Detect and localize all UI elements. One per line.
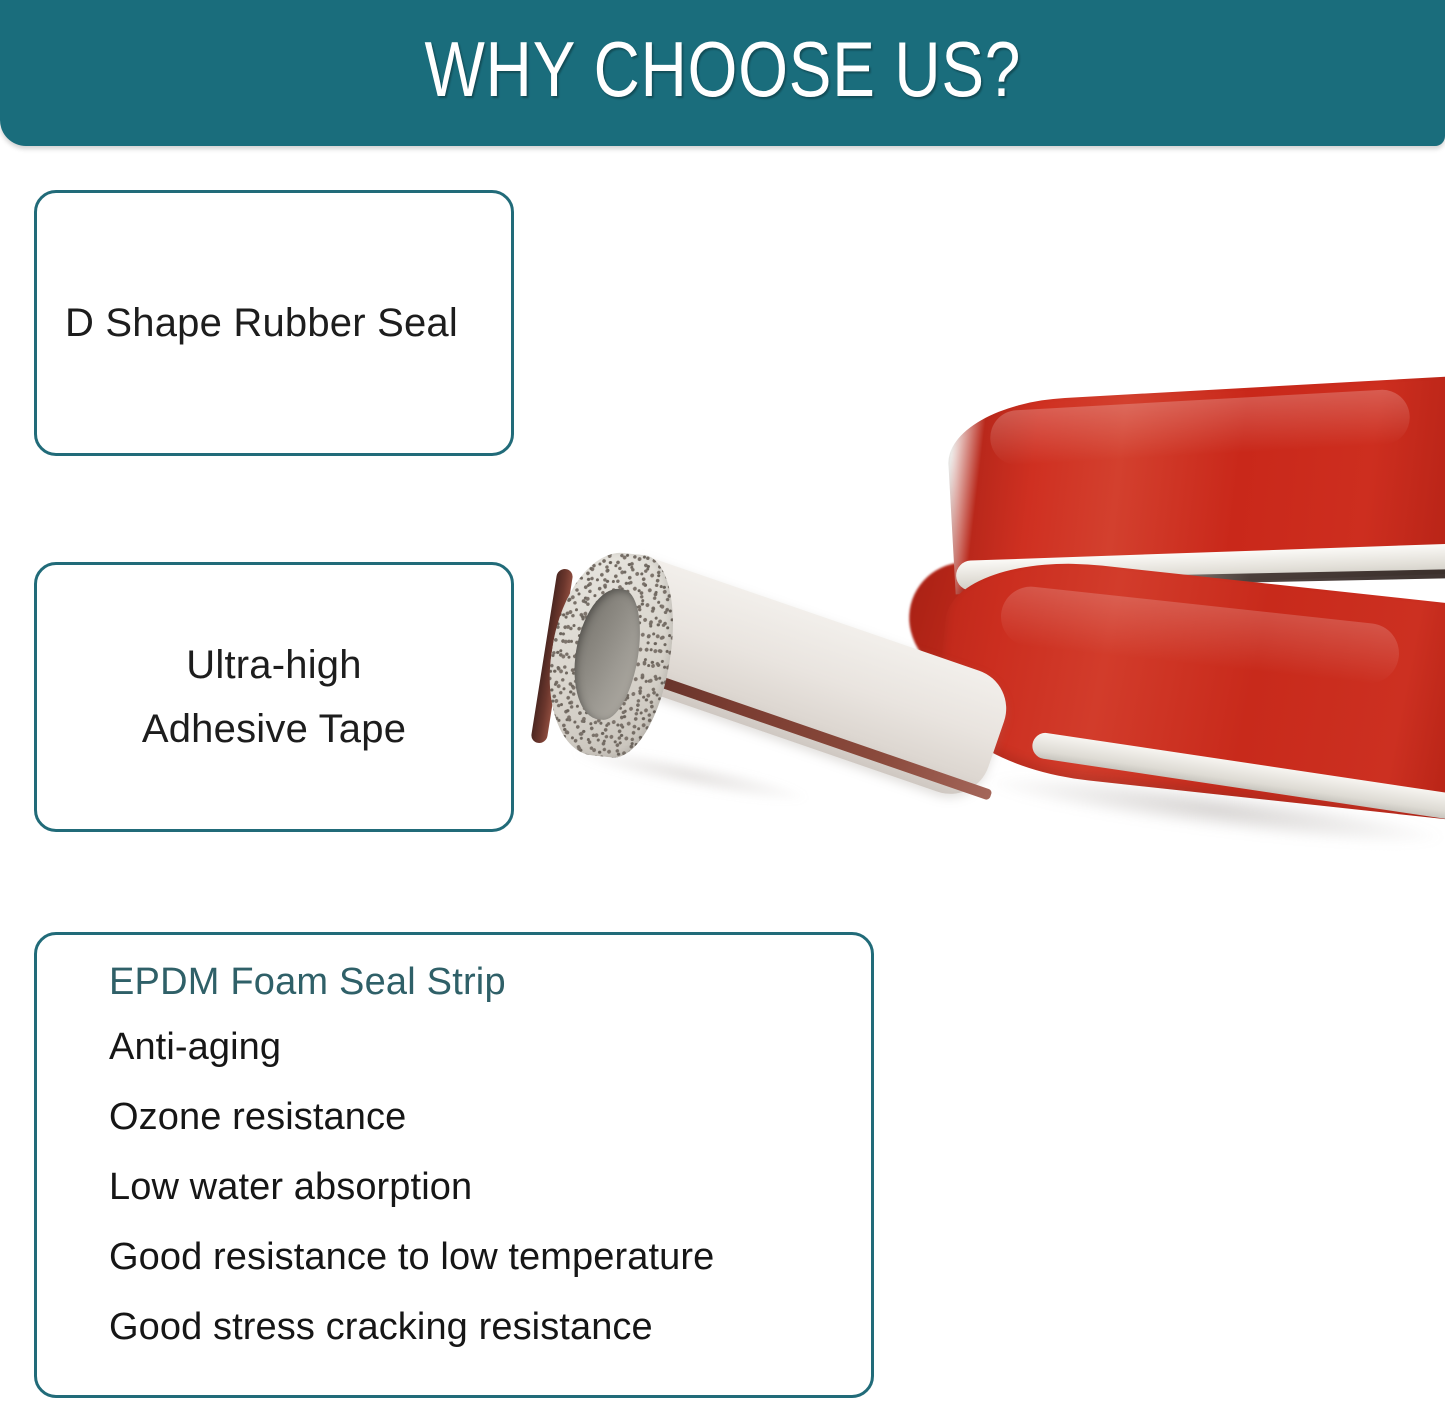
d-shape-seal-strip-image <box>530 530 1000 830</box>
feature-box-d-shape: D Shape Rubber Seal <box>34 190 514 456</box>
seal-strip-drop-shadow <box>570 739 811 810</box>
epdm-section-title: EPDM Foam Seal Strip <box>109 961 871 1004</box>
feature-box-d-shape-label: D Shape Rubber Seal <box>37 301 458 346</box>
feature-box-epdm: EPDM Foam Seal Strip Anti-aging Ozone re… <box>34 932 874 1398</box>
feature-box-adhesive: Ultra-high Adhesive Tape <box>34 562 514 832</box>
feature-box-adhesive-line2: Adhesive Tape <box>142 709 406 749</box>
page-title: WHY CHOOSE US? <box>424 24 1021 115</box>
list-item: Good resistance to low temperature <box>109 1238 871 1276</box>
list-item: Anti-aging <box>109 1028 871 1066</box>
header-banner: WHY CHOOSE US? <box>0 0 1445 146</box>
list-item: Ozone resistance <box>109 1098 871 1136</box>
feature-box-adhesive-line1: Ultra-high <box>186 645 361 685</box>
product-photo: high quality material <box>520 370 1445 890</box>
epdm-feature-list: Anti-aging Ozone resistance Low water ab… <box>109 1028 871 1346</box>
list-item: Good stress cracking resistance <box>109 1308 871 1346</box>
list-item: Low water absorption <box>109 1168 871 1206</box>
infographic-page: WHY CHOOSE US? high quality material <box>0 0 1445 1411</box>
